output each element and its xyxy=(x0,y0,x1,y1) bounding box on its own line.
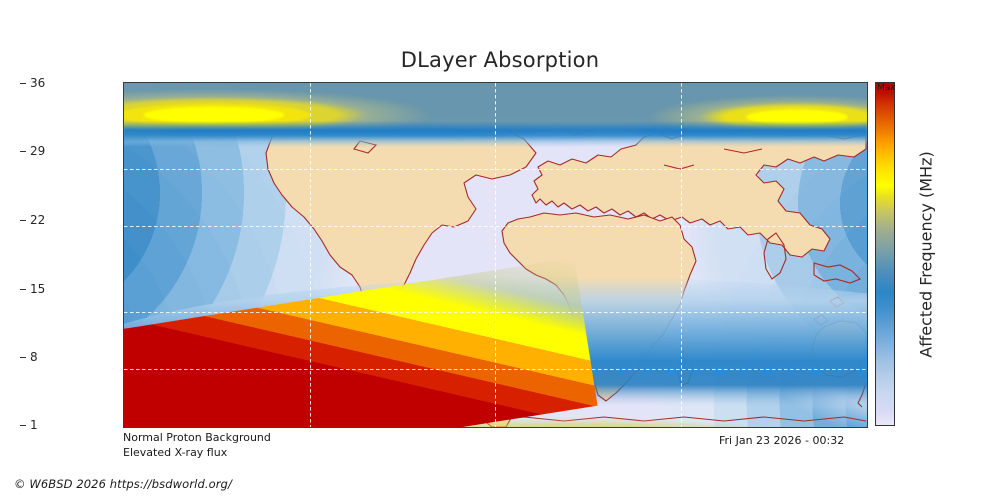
colorbar[interactable]: Max xyxy=(875,82,895,426)
colorbar-label-15: 15 xyxy=(30,282,45,296)
colorbar-tick-15 xyxy=(20,289,26,290)
absorption-map[interactable] xyxy=(123,82,868,428)
proton-status-text: Normal Proton Background xyxy=(123,431,271,444)
xray-status-text: Elevated X-ray flux xyxy=(123,446,227,459)
colorbar-gradient xyxy=(875,82,895,426)
credit-text: © W6BSD 2026 https://bsdworld.org/ xyxy=(14,477,232,491)
colorbar-tick-22 xyxy=(20,220,26,221)
colorbar-axis-label: Affected Frequency (MHz) xyxy=(917,151,936,357)
colorbar-tick-29 xyxy=(20,151,26,152)
colorbar-max-label: Max xyxy=(876,83,897,93)
timestamp-text: Fri Jan 23 2026 - 00:32 xyxy=(719,434,844,447)
colorbar-tick-1 xyxy=(20,425,26,426)
colorbar-label-1: 1 xyxy=(30,418,38,432)
gridline-lon-90w xyxy=(310,83,311,427)
colorbar-label-29: 29 xyxy=(30,144,45,158)
page-title: DLayer Absorption xyxy=(0,48,1000,72)
colorbar-tick-36 xyxy=(20,83,26,84)
colorbar-tick-8 xyxy=(20,357,26,358)
gridline-lon-0 xyxy=(495,83,496,427)
colorbar-label-36: 36 xyxy=(30,76,45,90)
gridline-lon-90e xyxy=(681,83,682,427)
colorbar-label-8: 8 xyxy=(30,350,38,364)
colorbar-label-22: 22 xyxy=(30,213,45,227)
colorbar-axis-label-wrap: Affected Frequency (MHz) xyxy=(916,82,936,426)
